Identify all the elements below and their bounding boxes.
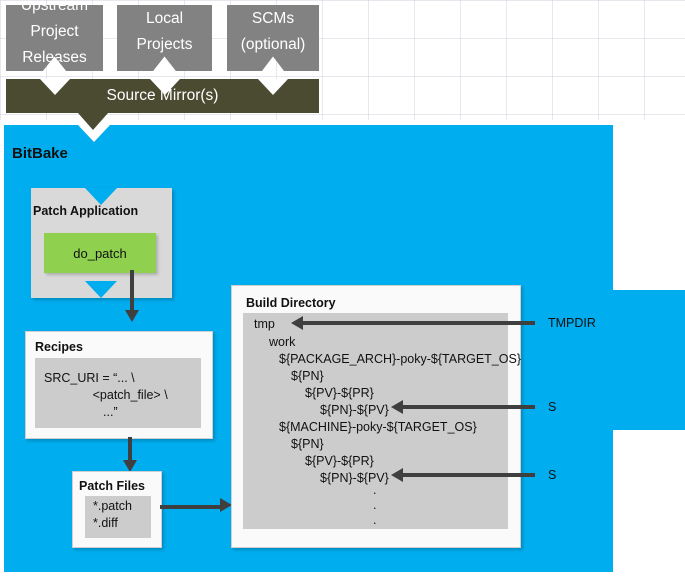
label-tmpdir: TMPDIR <box>548 316 596 330</box>
bitbake-region-extension <box>613 290 685 430</box>
mirror-down-arrow <box>78 113 108 130</box>
build-tree-row-5: ${PN}-${PV} <box>320 402 389 420</box>
build-tree-row-1: work <box>269 334 295 352</box>
arrow-s-first-head <box>391 400 403 414</box>
source-box-scms: SCMs (optional) <box>227 5 319 71</box>
recipes-code-line-2: <patch_file> \ <box>44 387 168 404</box>
mirror-notch-scms <box>258 79 288 95</box>
arrow-s-second-shaft <box>403 473 535 477</box>
patch-files-item-2: *.diff <box>93 515 118 532</box>
mirror-notch-upstream <box>40 79 70 95</box>
do-patch-task[interactable]: do_patch <box>44 233 156 273</box>
build-directory-title: Build Directory <box>246 296 336 310</box>
arrow-tmpdir-head <box>291 316 303 330</box>
build-tree-row-0: tmp <box>254 316 275 334</box>
source-box-upstream-line-2: Project <box>21 22 88 48</box>
do-patch-task-label: do_patch <box>73 246 127 261</box>
patch-files-item-1: *.patch <box>93 498 132 515</box>
build-tree-row-9: ${PN}-${PV} <box>320 470 389 488</box>
arrow-s-first-shaft <box>403 405 535 409</box>
diagram-canvas: BitBake Upstream Project Releases Local … <box>0 0 685 576</box>
patch-application-top-notch <box>85 188 117 205</box>
source-box-upstream-line-3: Releases <box>21 48 88 74</box>
source-box-upstream: Upstream Project Releases <box>6 5 103 71</box>
patch-application-title: Patch Application <box>33 204 138 218</box>
build-tree-row-7: ${PN} <box>291 436 324 454</box>
build-tree-row-12: . <box>373 512 376 530</box>
source-box-local-projects: Local Projects <box>117 5 212 71</box>
source-box-local-line-1: Local <box>137 9 193 35</box>
source-box-upstream-line-1: Upstream <box>21 0 88 22</box>
arrow-patch-files-to-build-dir-shaft <box>160 505 222 509</box>
source-box-local-line-2: Projects <box>137 35 193 61</box>
patch-application-bottom-notch <box>85 281 117 298</box>
mirror-notch-local <box>150 79 180 95</box>
bitbake-label: BitBake <box>12 145 68 162</box>
build-tree-row-8: ${PV}-${PR} <box>305 453 374 471</box>
build-tree-row-3: ${PN} <box>291 368 324 386</box>
source-box-scms-line-2: (optional) <box>241 35 306 61</box>
build-tree-row-4: ${PV}-${PR} <box>305 385 374 403</box>
label-s-second: S <box>548 468 556 482</box>
arrow-recipes-to-patch-files-shaft <box>128 437 132 462</box>
arrow-s-second-head <box>391 468 403 482</box>
arrow-tmpdir-shaft <box>303 321 535 325</box>
build-tree-row-6: ${MACHINE}-poky-${TARGET_OS} <box>279 419 477 437</box>
patch-files-title: Patch Files <box>79 479 145 493</box>
recipes-title: Recipes <box>35 340 83 354</box>
recipes-code-line-3: ...” <box>44 404 118 421</box>
source-box-scms-line-1: SCMs <box>241 9 306 35</box>
arrow-do-patch-to-recipes-shaft <box>130 270 134 312</box>
arrow-do-patch-to-recipes-head <box>125 310 139 322</box>
build-tree-row-2: ${PACKAGE_ARCH}-poky-${TARGET_OS} <box>279 351 521 369</box>
recipes-code-line-1: SRC_URI = “... \ <box>44 370 135 387</box>
label-s-first: S <box>548 400 556 414</box>
